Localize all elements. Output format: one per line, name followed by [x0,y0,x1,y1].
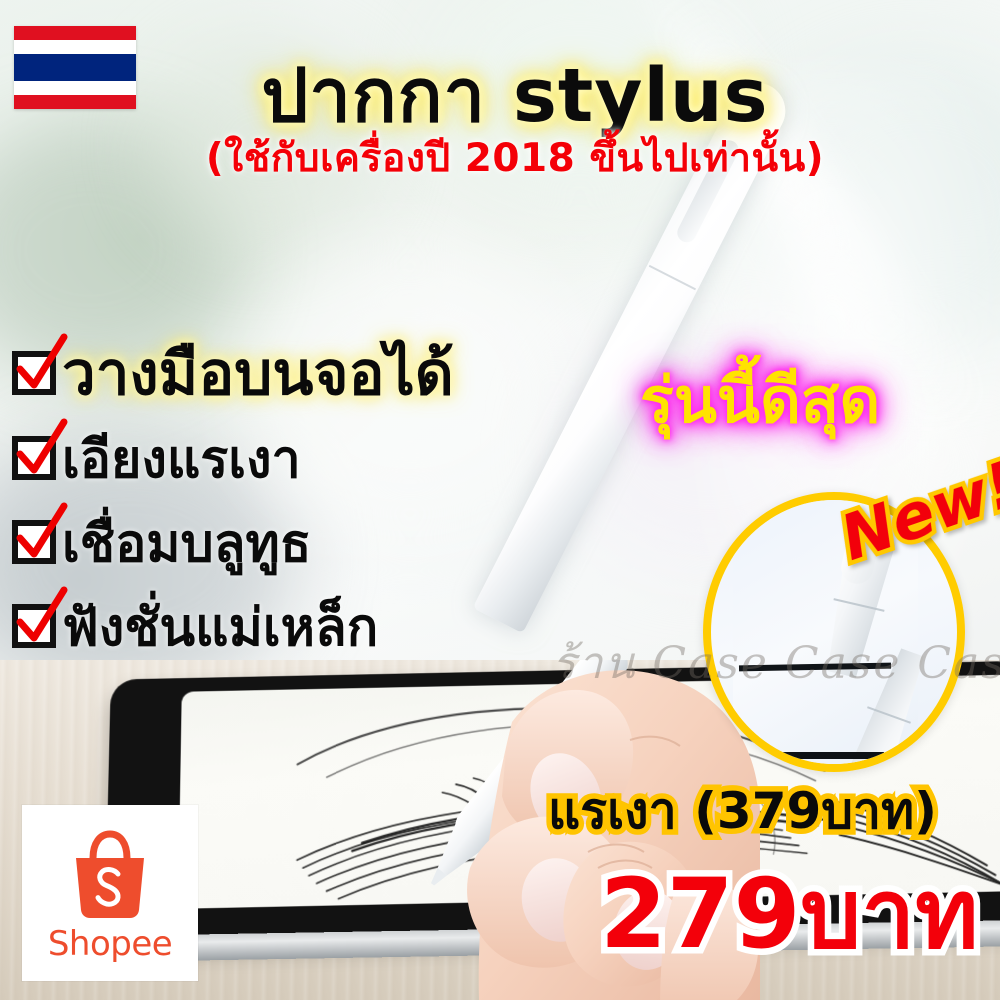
thailand-flag-icon [14,26,136,109]
feature-checklist: วางมือบนจอได้ เอียงแรเงา เชื่อมบลูทูธ [12,330,612,668]
headline-block: ปากกา stylus (ใช้กับเครื่องปี 2018 ขึ้นไ… [150,58,880,182]
product-advertisement-image: ปากกา stylus (ใช้กับเครื่องปี 2018 ขึ้นไ… [0,0,1000,1000]
product-title: ปากกา stylus [150,58,880,135]
inset-reference-line-bottom [739,752,884,759]
flag-band-red [14,95,136,109]
feature-label: ฟังชั่นแม่เหล็ก [62,585,378,668]
feature-item: เอียงแรเงา [12,416,612,500]
shopee-logo-block: Shopee [22,805,198,981]
checkbox-checked[interactable] [12,436,56,480]
checkmark-icon [14,420,68,480]
feature-item: ฟังชั่นแม่เหล็ก [12,584,612,668]
flag-band-red [14,26,136,40]
checkbox-checked[interactable] [12,604,56,648]
shopee-wordmark: Shopee [48,924,172,964]
product-subtitle: (ใช้กับเครื่องปี 2018 ขึ้นไปเท่านั้น) [150,137,880,182]
checkmark-icon [14,504,68,564]
shopee-bag-icon [60,828,160,922]
checkbox-checked[interactable] [12,520,56,564]
feature-label: เอียงแรเงา [62,417,301,500]
flag-band-blue [14,54,136,82]
stylus-seam [649,265,696,290]
best-model-badge: รุ่นนี้ดีสุด [640,350,880,450]
feature-label: เชื่อมบลูทูธ [62,501,311,584]
feature-item: เชื่อมบลูทูธ [12,500,612,584]
sale-price-label: 279บาท [600,838,979,990]
feature-label: วางมือบนจอได้ [62,326,454,421]
checkbox-checked[interactable] [12,351,56,395]
feature-item: วางมือบนจอได้ [12,330,612,416]
flag-band-white [14,81,136,95]
checkmark-icon [14,335,68,395]
checkmark-icon [14,588,68,648]
flag-band-white [14,40,136,54]
